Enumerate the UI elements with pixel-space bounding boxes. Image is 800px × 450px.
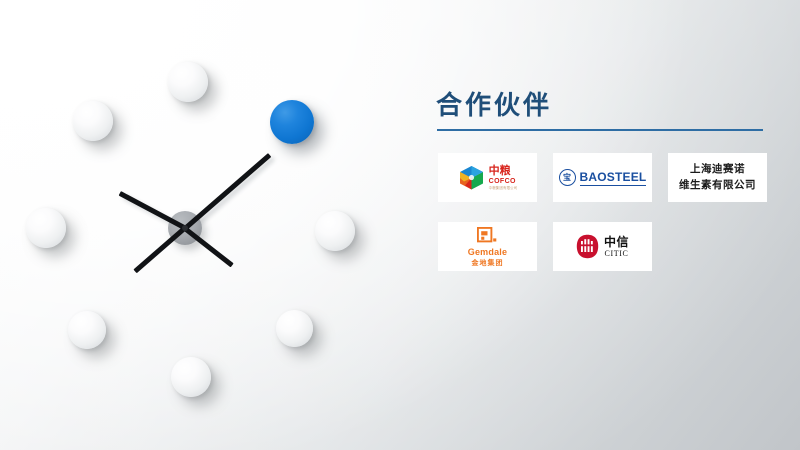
cofco-name-cn: 中粮 xyxy=(489,165,511,176)
partner-card-empty-slot xyxy=(668,222,767,271)
citic-wordmark: 中信 CITIC xyxy=(604,236,629,258)
baosteel-emblem-icon: 宝 xyxy=(559,169,576,186)
citic-emblem-icon xyxy=(576,234,599,259)
partner-card-disano[interactable]: 上海迪赛诺 维生素有限公司 xyxy=(668,153,767,202)
page-title: 合作伙伴 xyxy=(430,92,780,118)
cofco-cube-icon xyxy=(458,164,485,191)
gemdale-name-cn: 金地集团 xyxy=(471,260,503,267)
hour-marker-6 xyxy=(171,357,211,397)
disano-logo: 上海迪赛诺 维生素有限公司 xyxy=(679,162,756,194)
hour-marker-9 xyxy=(26,208,66,248)
partner-card-baosteel[interactable]: 宝 BAOSTEEL xyxy=(553,153,652,202)
slide-root: 合作伙伴 xyxy=(0,0,800,450)
hour-marker-1-accent xyxy=(270,100,314,144)
hour-marker-11 xyxy=(73,101,113,141)
cofco-name-sub: 中粮集团有限公司 xyxy=(489,187,518,190)
partner-card-cofco[interactable]: 中粮 COFCO 中粮集团有限公司 xyxy=(438,153,537,202)
minute-hand xyxy=(184,153,271,230)
gemdale-logo: Gemdale 金地集团 xyxy=(468,227,507,267)
cofco-logo: 中粮 COFCO 中粮集团有限公司 xyxy=(458,164,518,191)
gemdale-mark-icon xyxy=(477,227,497,244)
hour-marker-8 xyxy=(68,311,106,349)
cofco-wordmark: 中粮 COFCO 中粮集团有限公司 xyxy=(489,165,518,190)
baosteel-logo: 宝 BAOSTEEL xyxy=(559,169,647,186)
hour-marker-4 xyxy=(276,310,313,347)
citic-name-en: CITIC xyxy=(605,250,629,258)
partner-card-citic[interactable]: 中信 CITIC xyxy=(553,222,652,271)
counterweight-arm-lower-right xyxy=(184,226,234,266)
cofco-name-en: COFCO xyxy=(489,178,516,185)
partners-section: 合作伙伴 xyxy=(430,92,780,271)
title-underline xyxy=(437,129,763,131)
wall-clock-illustration xyxy=(0,0,400,450)
clock-center-pin xyxy=(182,225,188,231)
partner-logo-grid: 中粮 COFCO 中粮集团有限公司 宝 BAOSTEEL 上海迪赛诺 维生素有限… xyxy=(438,153,780,271)
citic-name-cn: 中信 xyxy=(604,236,629,248)
gemdale-wordmark: Gemdale xyxy=(468,248,507,257)
disano-line-1: 上海迪赛诺 xyxy=(679,162,756,178)
baosteel-wordmark: BAOSTEEL xyxy=(580,170,647,186)
counterweight-arm-lower-left xyxy=(134,227,187,274)
partner-card-gemdale[interactable]: Gemdale 金地集团 xyxy=(438,222,537,271)
disano-line-2: 维生素有限公司 xyxy=(679,178,756,194)
hour-marker-12 xyxy=(168,62,208,102)
hour-marker-3 xyxy=(315,211,355,251)
hour-hand xyxy=(119,192,186,231)
citic-logo: 中信 CITIC xyxy=(576,234,629,259)
